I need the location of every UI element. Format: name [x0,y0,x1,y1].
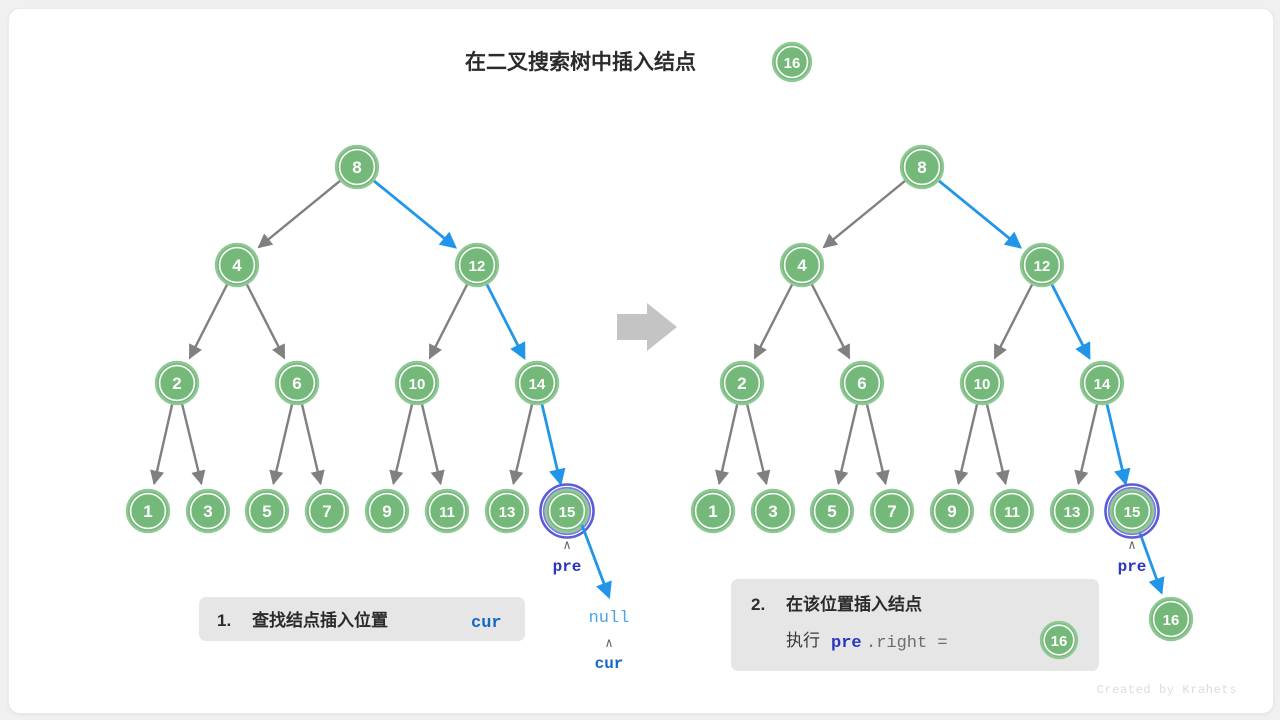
tree-node-label: 10 [409,376,426,393]
tree-node-right-14[interactable]: 14 [1081,362,1123,404]
tree-node-right-6[interactable]: 6 [841,362,883,404]
tree-node-label: 13 [499,504,516,521]
tree-edge-l8-l4 [259,181,340,247]
tree-edge-l12-l14 [487,285,524,358]
tree-node-left-2[interactable]: 2 [156,362,198,404]
tree-node-right-11[interactable]: 11 [991,490,1033,532]
step-1-code: cur [471,614,502,633]
step-2-text: 在该位置插入结点 [786,594,922,614]
tree-node-right-13[interactable]: 13 [1051,490,1093,532]
tree-edge-r14-r15 [1107,404,1126,483]
step-2-badge-value: 16 [1051,633,1068,650]
tree-edge-l6-l7 [302,404,321,483]
tree-node-label: 3 [203,502,212,521]
tree-edge-r4-r2 [755,285,792,358]
step-2: 2. 在该位置插入结点 执行 pre .right = 16 [731,579,1099,671]
tree-node-left-11[interactable]: 11 [426,490,468,532]
step-2-box [731,579,1099,671]
tree-node-left-6[interactable]: 6 [276,362,318,404]
tree-node-left-1[interactable]: 1 [127,490,169,532]
tree-edge-l12-l10 [430,285,467,358]
tree-node-label: 5 [827,502,836,521]
step-2-badge: 16 [1041,622,1077,658]
tree-node-label: 3 [768,502,777,521]
tree-node-right-2[interactable]: 2 [721,362,763,404]
pre-pointer-label-left: pre [553,558,582,576]
tree-edge-l8-l12 [374,181,455,247]
tree-node-label: 4 [797,256,807,275]
pre-pointer-label-right: pre [1118,558,1147,576]
tree-edge-r10-r9 [958,404,977,483]
tree-node-left-4[interactable]: 4 [216,244,258,286]
tree-node-label: 1 [708,502,717,521]
tree-node-right-1[interactable]: 1 [692,490,734,532]
step-2-exec-prefix: 执行 [786,631,820,650]
tree-node-left-14[interactable]: 14 [516,362,558,404]
tree-edge-l2-l1 [154,404,172,483]
tree-edge-r12-r14 [1052,285,1089,358]
left-pre-pointer: ∧ pre [553,538,582,576]
tree-edge-r4-r6 [812,285,849,358]
diagram-card: 在二叉搜索树中插入结点 16 841226101413579111315 nul… [8,8,1274,714]
cur-pointer-label: cur [595,655,624,673]
tree-edge-r6-r7 [867,404,886,483]
step-1-number: 1. [217,611,231,630]
tree-node-label: 12 [1034,258,1051,275]
left-null-pointer: null ∧ cur [582,525,629,673]
tree-node-right-3[interactable]: 3 [752,490,794,532]
page-title: 在二叉搜索树中插入结点 16 [465,43,811,81]
tree-node-label: 15 [559,504,576,521]
tree-node-left-9[interactable]: 9 [366,490,408,532]
tree-node-label: 13 [1064,504,1081,521]
tree-node-label: 16 [1163,612,1180,629]
tree-edge-r14-r13 [1078,404,1097,483]
tree-edge-r2-r1 [719,404,737,483]
tree-node-label: 5 [262,502,271,521]
tree-node-label: 7 [887,502,896,521]
tree-node-label: 4 [232,256,242,275]
step-2-code-pre: pre [831,634,862,653]
pre-caret-left: ∧ [563,538,571,553]
null-label: null [589,609,630,628]
tree-node-left-7[interactable]: 7 [306,490,348,532]
tree-node-label: 6 [292,374,301,393]
tree-node-left-15[interactable]: 15 [541,485,594,538]
tree-edge-l6-l5 [273,404,292,483]
tree-node-left-10[interactable]: 10 [396,362,438,404]
left-tree-edges [154,181,560,484]
tree-node-label: 8 [352,158,361,177]
tree-edge-r10-r11 [987,404,1006,483]
step-2-code-rest: .right = [866,634,948,653]
tree-node-label: 14 [1094,376,1111,393]
tree-node-left-3[interactable]: 3 [187,490,229,532]
tree-edge-l14-l15 [542,404,561,483]
tree-edge-l4-l6 [247,285,284,358]
tree-edge-l14-l13 [513,404,532,483]
tree-node-label: 9 [382,502,391,521]
tree-node-label: 14 [529,376,546,393]
tree-node-right-16[interactable]: 16 [1150,598,1192,640]
tree-node-label: 8 [917,158,926,177]
tree-node-left-8[interactable]: 8 [336,146,378,188]
tree-node-label: 6 [857,374,866,393]
tree-edge-l10-l9 [393,404,412,483]
step-1: 1. 查找结点插入位置 cur [199,597,525,641]
tree-node-right-7[interactable]: 7 [871,490,913,532]
step-2-number: 2. [751,595,765,614]
tree-edge-r6-r5 [838,404,857,483]
tree-node-right-10[interactable]: 10 [961,362,1003,404]
tree-node-label: 9 [947,502,956,521]
tree-node-right-9[interactable]: 9 [931,490,973,532]
tree-node-right-4[interactable]: 4 [781,244,823,286]
tree-node-label: 2 [737,374,746,393]
tree-node-right-12[interactable]: 12 [1021,244,1063,286]
tree-node-left-13[interactable]: 13 [486,490,528,532]
right-arrow-icon [617,303,677,351]
tree-node-right-8[interactable]: 8 [901,146,943,188]
null-edge [582,525,609,597]
credit-text: Created by Krahets [1097,683,1237,697]
cur-caret: ∧ [605,636,613,651]
tree-edge-r8-r4 [824,181,905,247]
tree-edge-r12-r10 [995,285,1032,358]
tree-edge-r8-r12 [939,181,1020,247]
tree-node-label: 1 [143,502,152,521]
diagram-canvas: 在二叉搜索树中插入结点 16 841226101413579111315 nul… [9,9,1273,713]
tree-node-label: 2 [172,374,181,393]
tree-node-label: 15 [1124,504,1141,521]
tree-node-label: 10 [974,376,991,393]
right-pre-pointer: ∧ pre [1118,538,1147,576]
tree-node-left-5[interactable]: 5 [246,490,288,532]
tree-edge-l2-l3 [182,404,201,483]
page-title-text: 在二叉搜索树中插入结点 [465,50,696,74]
tree-edge-l4-l2 [190,285,227,358]
tree-node-right-15[interactable]: 15 [1106,485,1159,538]
tree-node-label: 11 [1004,504,1020,521]
tree-node-label: 11 [439,504,455,521]
tree-node-label: 12 [469,258,486,275]
tree-edge-r2-r3 [747,404,766,483]
tree-node-label: 7 [322,502,331,521]
pre-caret-right: ∧ [1128,538,1136,553]
tree-edge-l10-l11 [422,404,441,483]
step-1-text: 查找结点插入位置 [251,610,388,630]
title-badge-value: 16 [784,55,801,72]
tree-node-right-5[interactable]: 5 [811,490,853,532]
tree-node-left-12[interactable]: 12 [456,244,498,286]
title-badge: 16 [773,43,811,81]
